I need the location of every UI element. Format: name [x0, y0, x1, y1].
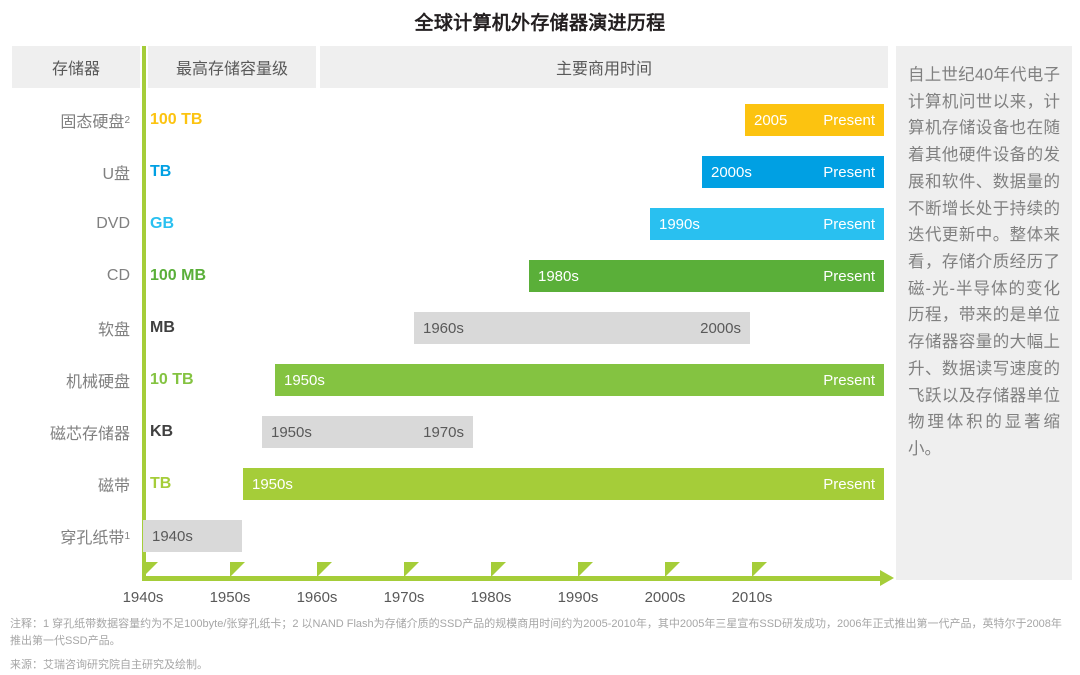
row-label-device: 磁芯存储器 [0, 406, 130, 458]
row-label-device: CD [0, 250, 130, 302]
table-row: 穿孔纸带11940s [0, 510, 890, 562]
x-axis-tick-label: 1940s [103, 589, 183, 606]
x-axis-arrow-icon [880, 570, 894, 586]
timeline-bar: 1950s1970s [262, 416, 473, 448]
row-label-device: 软盘 [0, 302, 130, 354]
bar-start-label: 1990s [659, 216, 700, 233]
table-row: CD100 MB1980sPresent [0, 250, 890, 302]
row-label-device: 穿孔纸带1 [0, 510, 130, 562]
row-capacity-value: 100 MB [150, 250, 206, 302]
bar-start-label: 1950s [252, 476, 293, 493]
x-axis-tick [143, 562, 158, 577]
bar-end-label: Present [823, 216, 875, 233]
bar-start-label: 1940s [152, 528, 193, 545]
column-header-device: 存储器 [12, 46, 140, 88]
table-row: DVDGB1990sPresent [0, 198, 890, 250]
footnote-marker: 2 [124, 115, 130, 126]
x-axis-tick-label: 1970s [364, 589, 444, 606]
bar-end-label: Present [823, 112, 875, 129]
row-capacity-value: GB [150, 198, 174, 250]
table-row: 机械硬盘10 TB1950sPresent [0, 354, 890, 406]
column-header-capacity: 最高存储容量级 [148, 46, 316, 88]
x-axis-line [142, 576, 886, 581]
row-capacity-value: 10 TB [150, 354, 194, 406]
x-axis-tick-label: 2010s [712, 589, 792, 606]
bar-start-label: 1950s [284, 372, 325, 389]
timeline-bar: 1940s [143, 520, 242, 552]
row-capacity-value: MB [150, 302, 175, 354]
bar-end-label: Present [823, 268, 875, 285]
timeline-bar: 1950sPresent [243, 468, 884, 500]
bar-end-label: 2000s [700, 320, 741, 337]
page-title: 全球计算机外存储器演进历程 [0, 8, 1080, 35]
table-row: 磁带TB1950sPresent [0, 458, 890, 510]
timeline-bar: 1950sPresent [275, 364, 884, 396]
bar-start-label: 1950s [271, 424, 312, 441]
x-axis-tick [491, 562, 506, 577]
timeline-bar: 2000sPresent [702, 156, 884, 188]
row-capacity-value: 100 TB [150, 94, 202, 146]
row-label-device: U盘 [0, 146, 130, 198]
row-label-device: 机械硬盘 [0, 354, 130, 406]
timeline-bar: 1960s2000s [414, 312, 750, 344]
x-axis-tick [317, 562, 332, 577]
footnote-note: 注释：1 穿孔纸带数据容量约为不足100byte/张穿孔纸卡；2 以NAND F… [10, 616, 1072, 650]
bar-end-label: 1970s [423, 424, 464, 441]
x-axis-tick [578, 562, 593, 577]
footnote-source: 来源：艾瑞咨询研究院自主研究及绘制。 [10, 657, 1072, 674]
timeline-bar: 1980sPresent [529, 260, 884, 292]
x-axis-tick-label: 2000s [625, 589, 705, 606]
row-capacity-value: TB [150, 146, 171, 198]
x-axis-tick-label: 1990s [538, 589, 618, 606]
timeline-bar: 1990sPresent [650, 208, 884, 240]
bar-start-label: 1980s [538, 268, 579, 285]
chart-page: 全球计算机外存储器演进历程 存储器 最高存储容量级 主要商用时间 固态硬盘210… [0, 0, 1080, 675]
bar-end-label: Present [823, 372, 875, 389]
bar-start-label: 1960s [423, 320, 464, 337]
table-row: 磁芯存储器KB1950s1970s [0, 406, 890, 458]
row-capacity-value: KB [150, 406, 173, 458]
x-axis-tick [404, 562, 419, 577]
footnotes: 注释：1 穿孔纸带数据容量约为不足100byte/张穿孔纸卡；2 以NAND F… [10, 616, 1072, 674]
table-row: U盘TB2000sPresent [0, 146, 890, 198]
x-axis-tick-label: 1980s [451, 589, 531, 606]
bar-end-label: Present [823, 476, 875, 493]
row-label-device: DVD [0, 198, 130, 250]
bar-start-label: 2000s [711, 164, 752, 181]
row-capacity-value: TB [150, 458, 171, 510]
row-label-device: 固态硬盘2 [0, 94, 130, 146]
bar-start-label: 2005 [754, 112, 787, 129]
x-axis-tick-label: 1950s [190, 589, 270, 606]
column-header-time: 主要商用时间 [320, 46, 888, 88]
x-axis-tick [665, 562, 680, 577]
table-row: 固态硬盘2100 TB2005Present [0, 94, 890, 146]
x-axis-tick [230, 562, 245, 577]
table-row: 软盘MB1960s2000s [0, 302, 890, 354]
x-axis-tick-label: 1960s [277, 589, 357, 606]
x-axis-tick [752, 562, 767, 577]
timeline-bar: 2005Present [745, 104, 884, 136]
summary-panel: 自上世纪40年代电子计算机问世以来，计算机存储设备也在随着其他硬件设备的发展和软… [896, 46, 1072, 580]
footnote-marker: 1 [124, 531, 130, 542]
bar-end-label: Present [823, 164, 875, 181]
row-label-device: 磁带 [0, 458, 130, 510]
